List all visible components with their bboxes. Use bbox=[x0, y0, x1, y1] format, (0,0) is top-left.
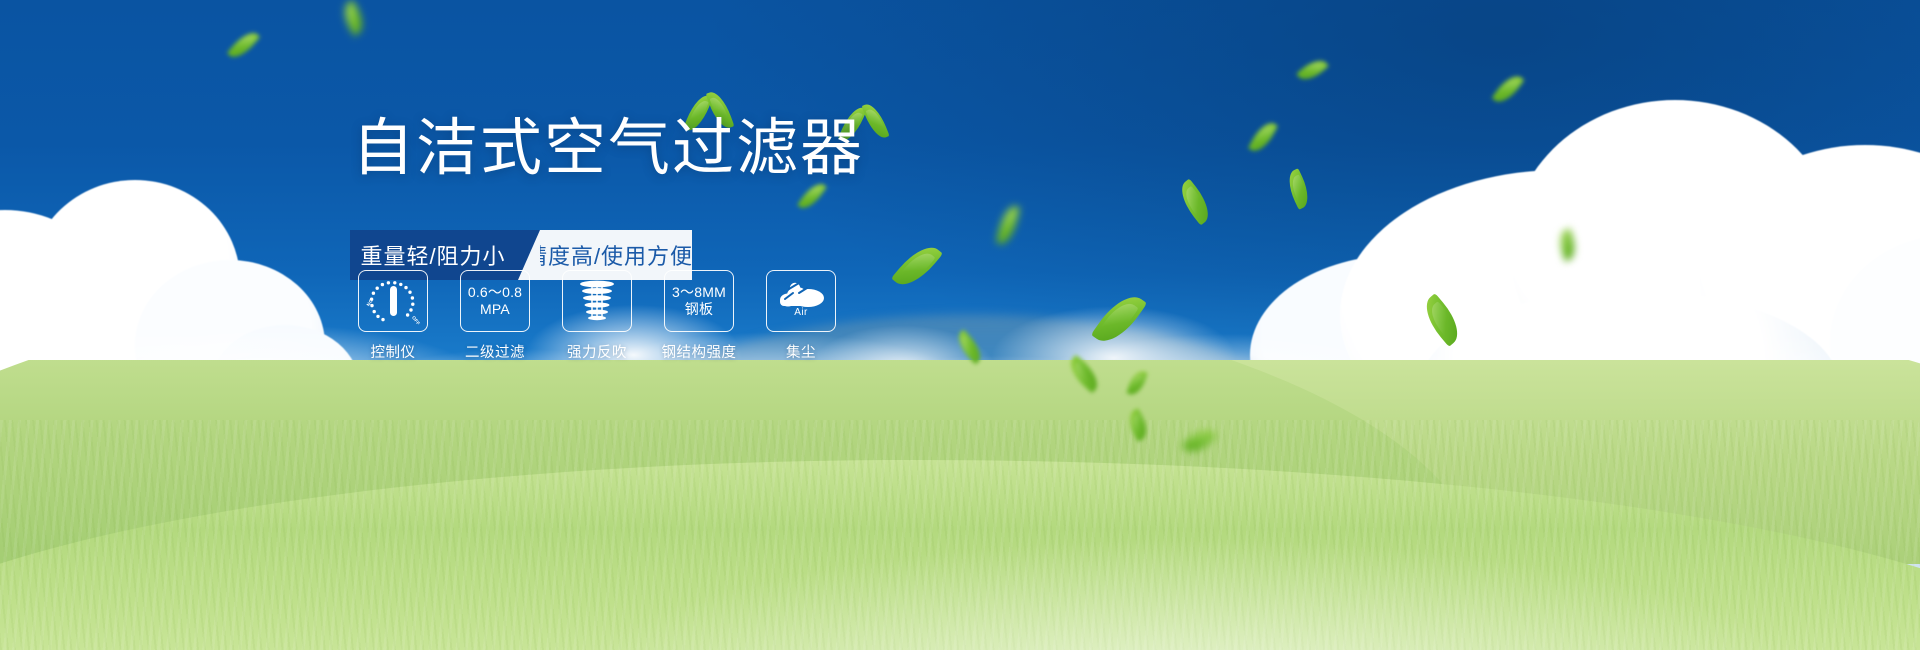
page-title: 自洁式空气过滤器 bbox=[352, 118, 864, 180]
cloud-air-box: Air bbox=[766, 270, 836, 332]
dial-needle-icon bbox=[390, 286, 397, 316]
pressure-text-icon: 0.6～0.8 MPA bbox=[468, 284, 522, 317]
feature-icon-list: NO OFF 控制仪 0.6～0.8 MPA 二级过滤 bbox=[357, 270, 837, 362]
feature-label: 二级过滤 bbox=[465, 341, 525, 362]
feature-label: 钢结构强度 bbox=[662, 341, 737, 362]
feature-item[interactable]: 3～8MM 钢板 钢结构强度 bbox=[663, 270, 735, 362]
coil-filter-icon bbox=[577, 279, 617, 323]
steel-material: 钢板 bbox=[685, 301, 713, 317]
pressure-text-box: 0.6～0.8 MPA bbox=[460, 270, 530, 332]
dial-label-off: OFF bbox=[411, 315, 421, 326]
cloud-air-icon: Air bbox=[775, 279, 827, 323]
feature-label: 集尘 bbox=[786, 341, 816, 362]
feature-label: 强力反吹 bbox=[567, 341, 627, 362]
control-dial-icon: NO OFF bbox=[367, 278, 419, 324]
steel-plate-icon: 3～8MM 钢板 bbox=[672, 284, 726, 317]
feature-item[interactable]: Air 集尘 bbox=[765, 270, 837, 362]
air-label: Air bbox=[794, 307, 807, 318]
coil-filter-box bbox=[562, 270, 632, 332]
feature-label: 控制仪 bbox=[371, 341, 416, 362]
feature-item[interactable]: 强力反吹 bbox=[561, 270, 633, 362]
cloud-glyph-icon bbox=[775, 279, 827, 309]
banner-content: 自洁式空气过滤器 重量轻/阻力小 精度高/使用方便 bbox=[0, 0, 1920, 650]
product-hero-banner: 自洁式空气过滤器 重量轻/阻力小 精度高/使用方便 bbox=[0, 0, 1920, 650]
steel-thickness: 3～8MM bbox=[672, 284, 726, 300]
pressure-unit: MPA bbox=[480, 301, 510, 317]
pressure-value: 0.6～0.8 bbox=[468, 284, 522, 300]
steel-plate-box: 3～8MM 钢板 bbox=[664, 270, 734, 332]
control-dial-box: NO OFF bbox=[358, 270, 428, 332]
feature-item[interactable]: 0.6～0.8 MPA 二级过滤 bbox=[459, 270, 531, 362]
feature-item[interactable]: NO OFF 控制仪 bbox=[357, 270, 429, 362]
